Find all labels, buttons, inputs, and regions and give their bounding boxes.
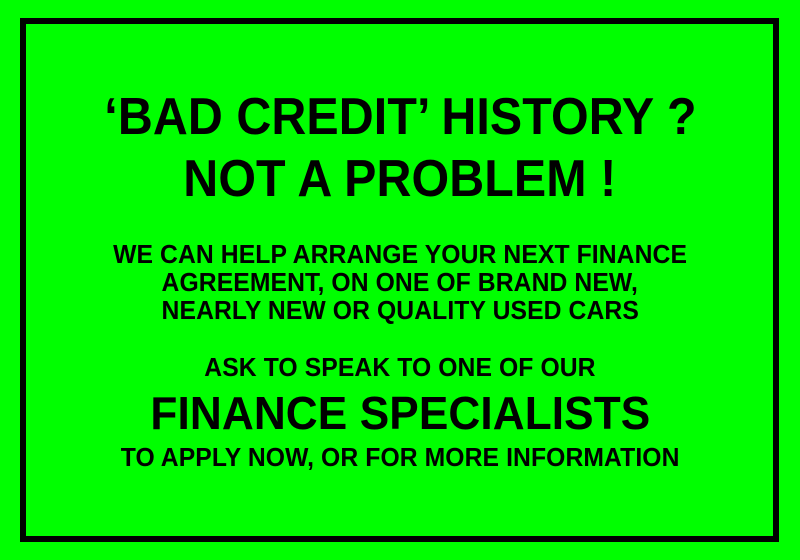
body-line-3: NEARLY NEW OR QUALITY USED CARS: [161, 296, 638, 324]
body-line-2: AGREEMENT, ON ONE OF BRAND NEW,: [162, 268, 638, 296]
poster-content: ‘BAD CREDIT’ HISTORY ? NOT A PROBLEM ! W…: [0, 0, 800, 560]
call-to-action-block: ASK TO SPEAK TO ONE OF OUR FINANCE SPECI…: [106, 352, 694, 472]
cta-emphasis-line: FINANCE SPECIALISTS: [150, 386, 650, 440]
cta-lead-line: ASK TO SPEAK TO ONE OF OUR: [204, 352, 595, 382]
advert-poster: ‘BAD CREDIT’ HISTORY ? NOT A PROBLEM ! W…: [0, 0, 800, 560]
body-line-1: WE CAN HELP ARRANGE YOUR NEXT FINANCE: [113, 240, 687, 268]
cta-tail-line: TO APPLY NOW, OR FOR MORE INFORMATION: [121, 442, 680, 472]
headline-block: ‘BAD CREDIT’ HISTORY ? NOT A PROBLEM !: [82, 86, 719, 210]
headline-line-2: NOT A PROBLEM !: [183, 148, 616, 210]
body-paragraph: WE CAN HELP ARRANGE YOUR NEXT FINANCE AG…: [98, 240, 702, 324]
headline-line-1: ‘BAD CREDIT’ HISTORY ?: [104, 86, 696, 148]
